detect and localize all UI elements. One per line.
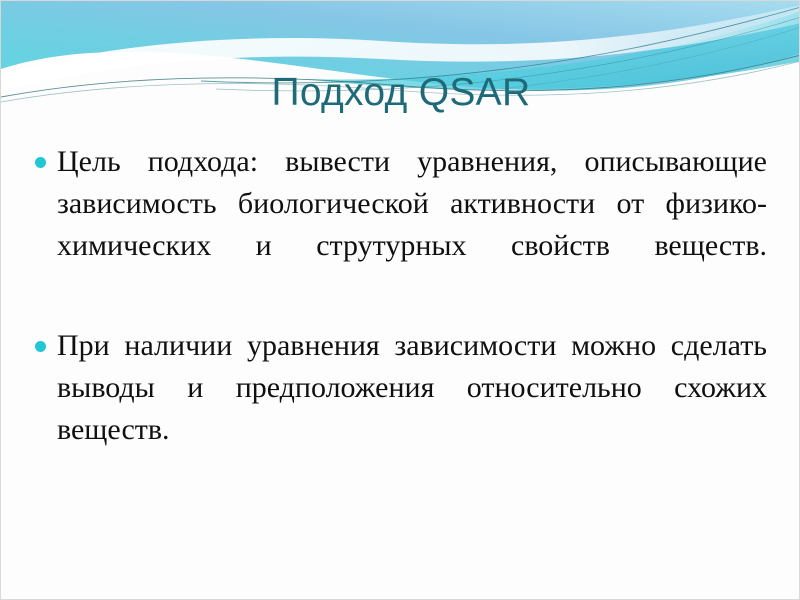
slide-title: Подход QSAR bbox=[1, 73, 800, 114]
bullet-dot-icon bbox=[35, 157, 46, 168]
bullet-text: При наличии уравнения зависимости можно … bbox=[57, 325, 767, 493]
presentation-slide: Подход QSAR Цель подхода: вывести уравне… bbox=[0, 0, 800, 600]
bullet-dot-icon bbox=[35, 341, 46, 352]
bullet-text: Цель подхода: вывести уравнения, описыва… bbox=[57, 141, 767, 309]
list-item: Цель подхода: вывести уравнения, описыва… bbox=[27, 141, 767, 309]
slide-body: Цель подхода: вывести уравнения, описыва… bbox=[27, 141, 767, 493]
list-item: При наличии уравнения зависимости можно … bbox=[27, 325, 767, 493]
